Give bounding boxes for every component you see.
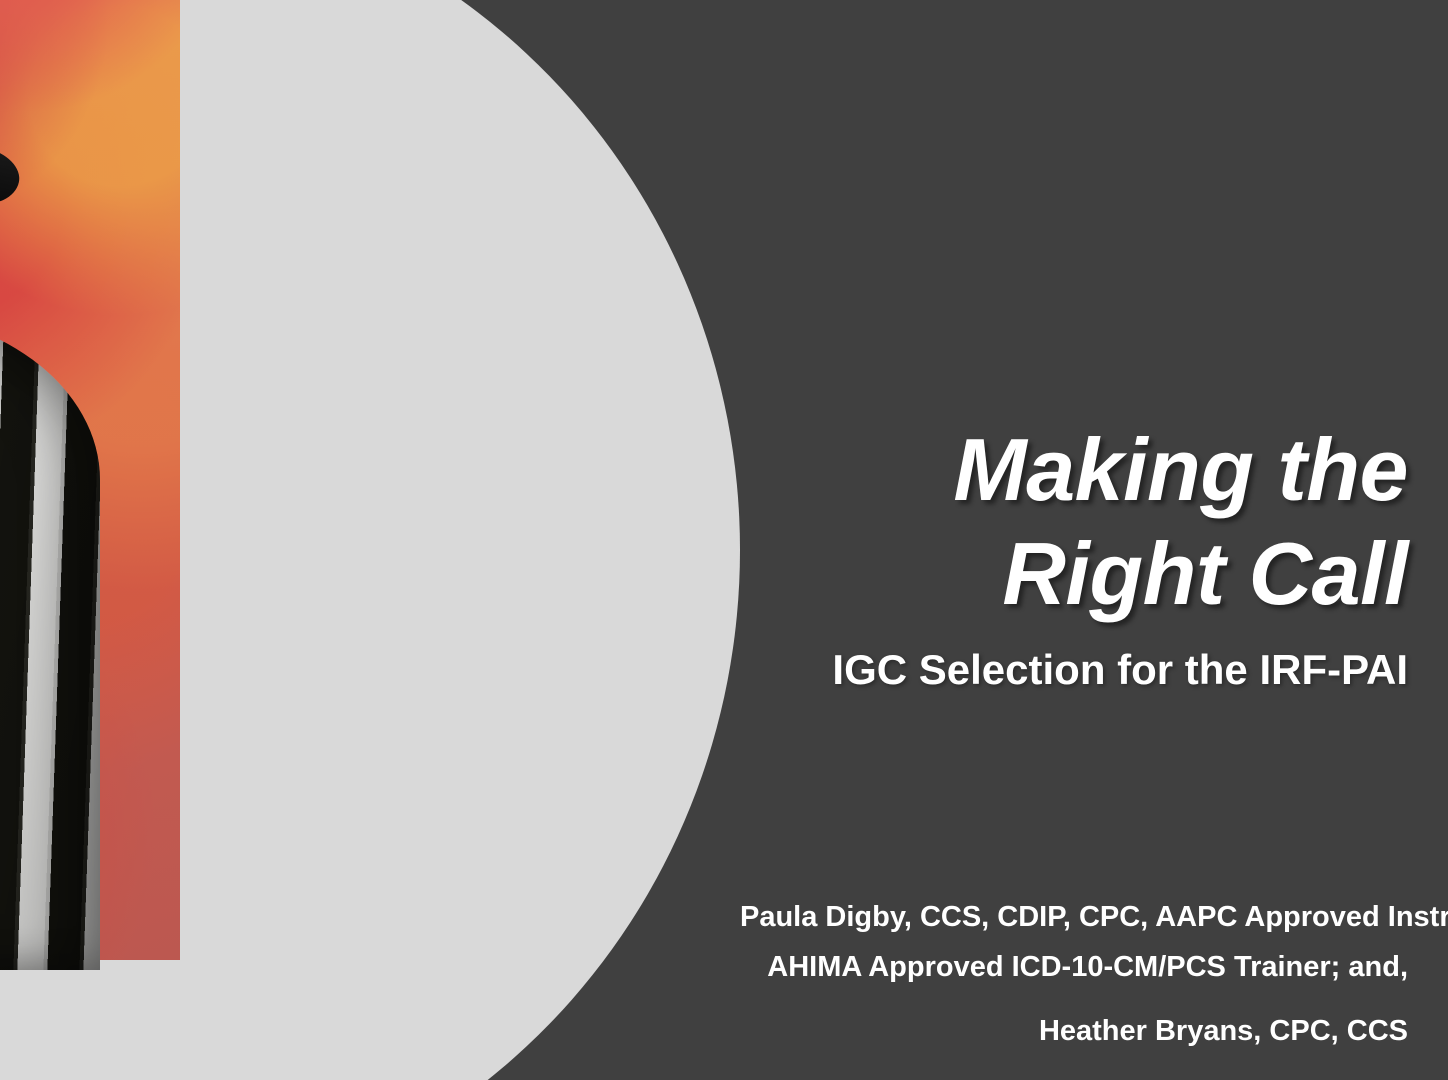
title-line-1: Making the	[740, 418, 1408, 522]
author-line-1: Paula Digby, CCS, CDIP, CPC, AAPC Approv…	[740, 892, 1408, 942]
author-line-2: AHIMA Approved ICD-10-CM/PCS Trainer; an…	[740, 942, 1408, 992]
presentation-slide: Making the Right Call IGC Selection for …	[0, 0, 1448, 1080]
photo-region	[0, 0, 760, 1080]
text-panel: Making the Right Call IGC Selection for …	[740, 0, 1448, 1080]
referee-figure	[0, 0, 180, 960]
cap-visor	[0, 129, 24, 211]
slide-title: Making the Right Call	[740, 418, 1408, 626]
jersey-shading	[0, 310, 100, 970]
author-line-3: Heather Bryans, CPC, CCS	[740, 1006, 1408, 1056]
title-line-2: Right Call	[740, 522, 1408, 626]
slide-subtitle: IGC Selection for the IRF-PAI	[740, 646, 1408, 694]
author-credits: Paula Digby, CCS, CDIP, CPC, AAPC Approv…	[740, 892, 1408, 1056]
